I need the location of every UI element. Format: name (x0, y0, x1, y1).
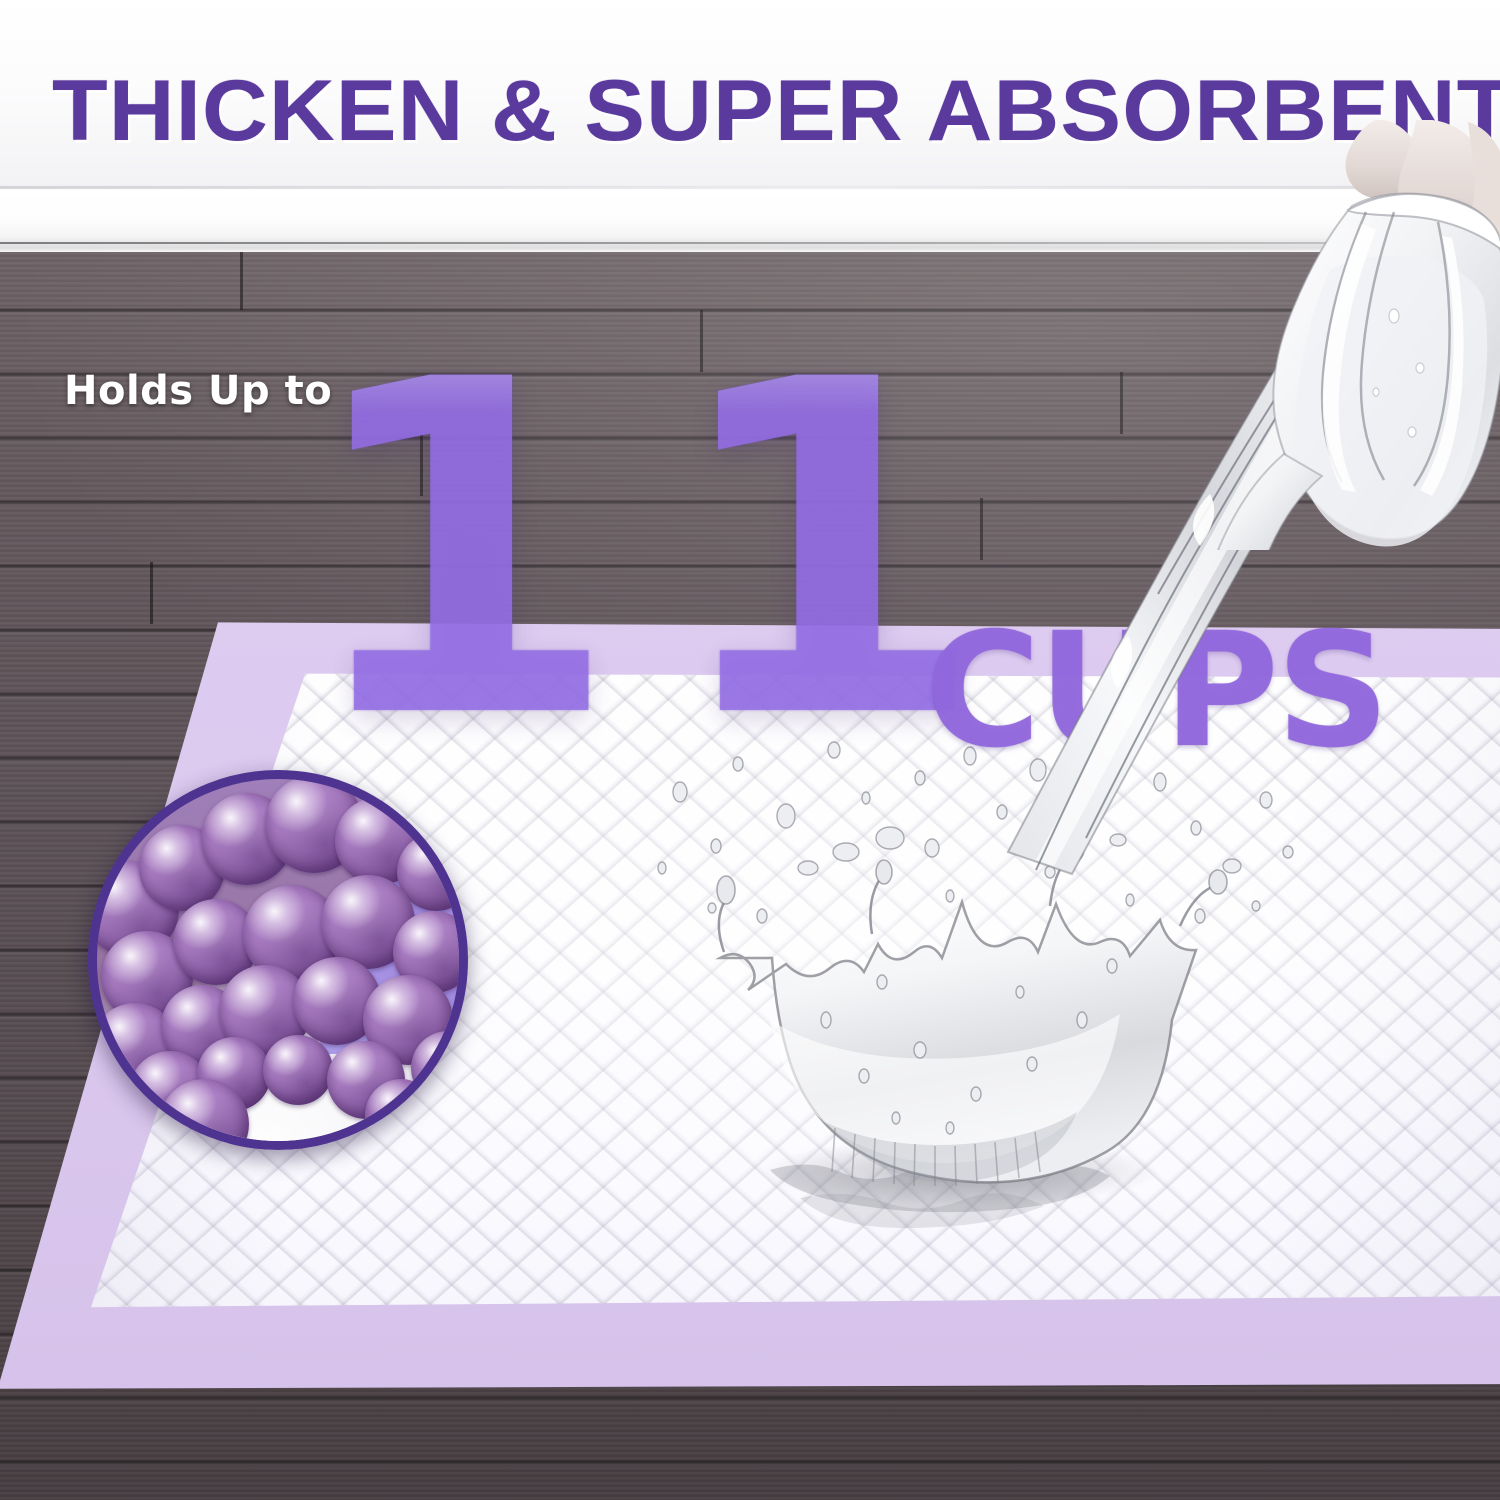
page-title: THICKEN & SUPER ABSORBENT (52, 62, 1500, 161)
gel-bead (365, 1079, 437, 1150)
baseboard-molding (0, 186, 1500, 258)
capacity-prefix-label: Holds Up to (64, 368, 332, 414)
gel-bead (263, 1035, 333, 1105)
gel-beads-inset-circle (88, 770, 468, 1150)
product-feature-image: THICKEN & SUPER ABSORBENT Holds Up to 11… (0, 0, 1500, 1500)
